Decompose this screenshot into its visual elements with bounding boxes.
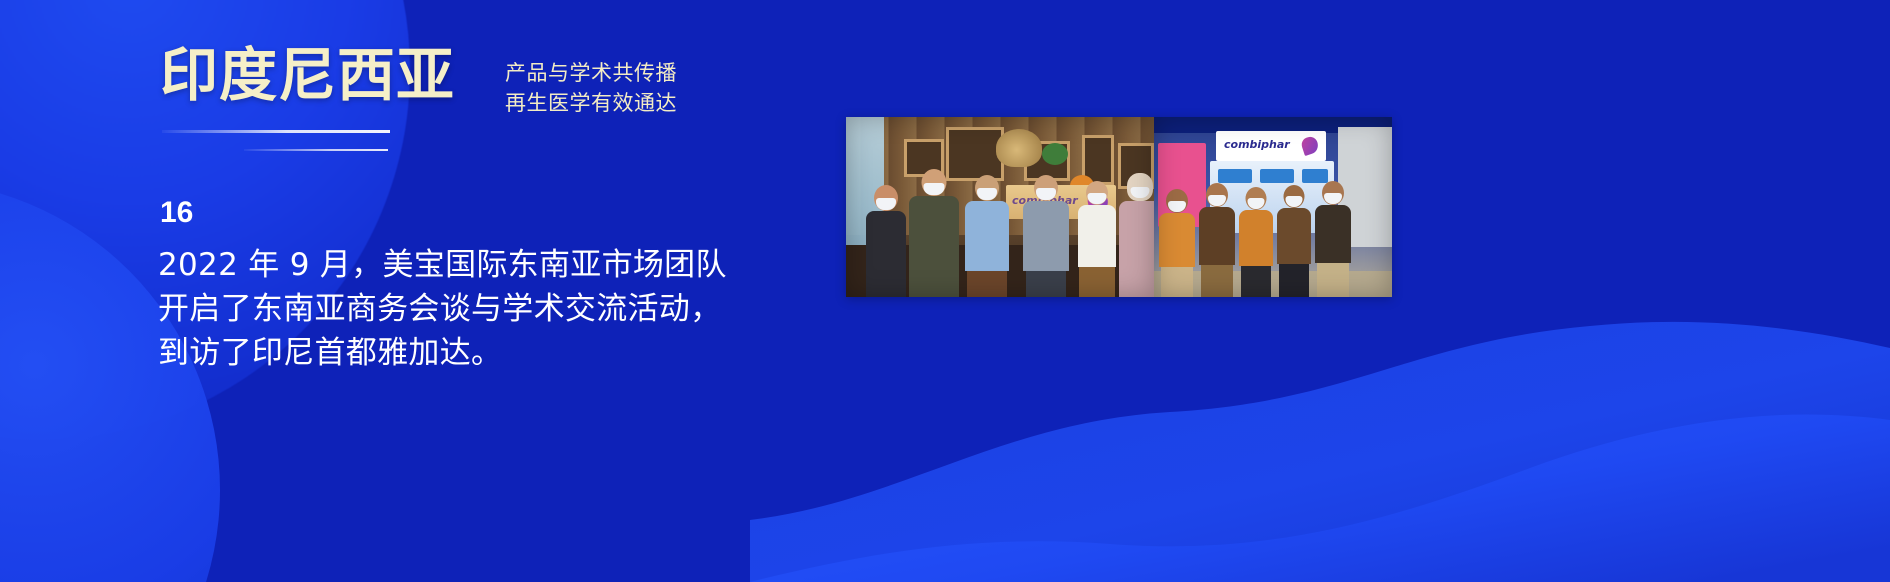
booth-brand-text: combiphar [1224,138,1290,151]
booth-panel-chip [1260,169,1294,183]
person-body [1277,208,1311,264]
booth-brand-mark-icon [1300,135,1320,156]
subtitle-line-1: 产品与学术共传播 [505,58,677,88]
photo-person [1118,173,1154,297]
title-block: 印度尼西亚 [160,46,455,104]
person-mask [876,198,896,210]
person-body [909,196,959,297]
page-title: 印度尼西亚 [160,46,455,104]
person-legs [1026,271,1066,297]
person-legs [1201,265,1233,297]
photo-person [864,185,908,297]
person-legs [1161,267,1193,297]
photo-person [964,175,1010,297]
slide-root: 印度尼西亚 产品与学术共传播 再生医学有效通达 16 2022 年 9 月，美宝… [0,0,1890,582]
person-body [1315,205,1351,263]
person-body [1119,201,1154,297]
subtitle-block: 产品与学术共传播 再生医学有效通达 [505,58,677,119]
photo-person [1238,187,1274,297]
person-body [1239,210,1273,266]
photo-person [1076,181,1118,297]
body-line-1: 2022 年 9 月，美宝国际东南亚市场团队 [158,243,738,287]
person-body [1023,201,1069,271]
person-legs [1279,264,1309,297]
photo-green-plant [1042,143,1068,165]
title-underline-primary [162,130,390,133]
person-legs [1317,263,1349,297]
person-legs [1241,266,1271,297]
person-body [1199,207,1235,265]
person-mask [1036,188,1056,200]
photo-person [908,169,960,297]
expo-booth-group-photo: combiphar [1154,117,1392,297]
person-legs [967,271,1007,297]
title-underline-secondary [244,149,388,151]
person-body [866,211,906,297]
body-line-3: 到访了印尼首都雅加达。 [158,331,738,375]
person-body [1159,213,1195,267]
item-number: 16 [160,198,193,228]
booth-brand-banner: combiphar [1216,131,1326,161]
booth-panel-chip [1218,169,1252,183]
person-legs [1079,267,1115,297]
body-paragraph: 2022 年 9 月，美宝国际东南亚市场团队 开启了东南亚商务会谈与学术交流活动… [158,243,738,375]
subtitle-line-2: 再生医学有效通达 [505,88,677,118]
photo-person [1158,189,1196,297]
person-mask [977,188,997,200]
decorative-waves-bottom-right [750,252,1890,582]
showroom-group-photo: combiphar [846,117,1154,297]
photo-group: combiphar [846,117,1392,297]
photo-person [1276,185,1312,297]
body-line-2: 开启了东南亚商务会谈与学术交流活动， [158,287,738,331]
person-body [1078,205,1116,267]
photo-person [1314,181,1352,297]
photo-person [1022,175,1070,297]
person-body [965,201,1009,271]
photo-person [1198,183,1236,297]
photo-dried-plant [996,129,1042,167]
person-mask [924,183,945,195]
